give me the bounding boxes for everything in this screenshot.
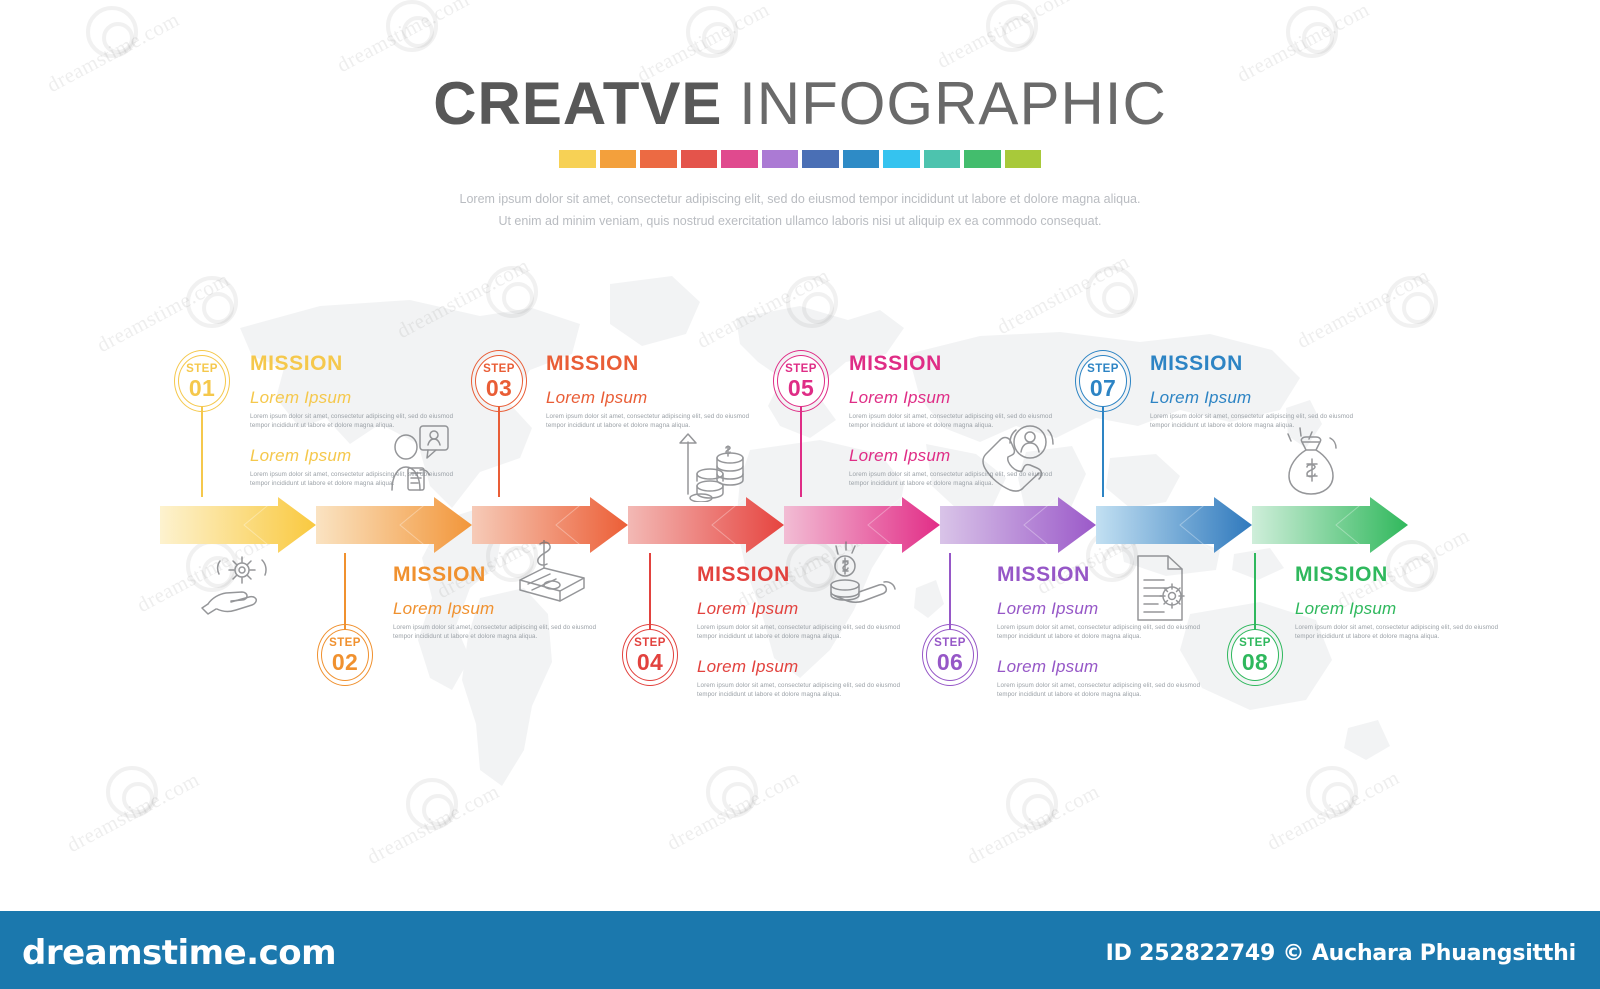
lorem-group: Lorem IpsumLorem ipsum dolor sit amet, c… <box>1150 388 1380 430</box>
money-bag-icon <box>1278 426 1344 500</box>
lorem-heading: Lorem Ipsum <box>849 388 1079 408</box>
lorem-heading: Lorem Ipsum <box>1150 388 1380 408</box>
connector-line-step-03 <box>498 400 500 497</box>
color-swatch-7 <box>802 150 839 168</box>
color-swatch-5 <box>721 150 758 168</box>
lorem-group: Lorem IpsumLorem ipsum dolor sit amet, c… <box>1295 599 1525 641</box>
cash-stack-icon <box>512 540 592 606</box>
arrow-segment-7 <box>1096 497 1252 553</box>
color-swatch-1 <box>559 150 596 168</box>
lorem-heading: Lorem Ipsum <box>697 657 927 677</box>
lorem-heading: Lorem Ipsum <box>997 599 1227 619</box>
step-word: STEP <box>329 637 361 649</box>
watermark-spiral-icon <box>1386 276 1438 328</box>
color-swatch-3 <box>640 150 677 168</box>
step-badge-05[interactable]: STEP05 <box>773 350 829 412</box>
step-number: 07 <box>1090 376 1116 400</box>
step-badge-04[interactable]: STEP04 <box>622 624 678 686</box>
step-word: STEP <box>1087 363 1119 375</box>
watermark-text: dreamstime.com <box>333 0 474 78</box>
mission-heading: MISSION <box>1150 352 1380 376</box>
step-number: 03 <box>486 376 512 400</box>
step-badge-03[interactable]: STEP03 <box>471 350 527 412</box>
mission-heading: MISSION <box>1295 563 1525 587</box>
step-badge-01[interactable]: STEP01 <box>174 350 230 412</box>
watermark-spiral-icon <box>186 276 238 328</box>
gear-in-hand-icon <box>196 548 280 616</box>
color-swatch-4 <box>681 150 718 168</box>
mission-heading: MISSION <box>997 563 1227 587</box>
step-content-08: MISSIONLorem IpsumLorem ipsum dolor sit … <box>1295 563 1525 657</box>
color-swatch-2 <box>600 150 637 168</box>
lorem-group: Lorem IpsumLorem ipsum dolor sit amet, c… <box>997 599 1227 641</box>
watermark-text: dreamstime.com <box>1293 263 1434 354</box>
coins-in-hand-icon <box>822 540 902 610</box>
step-number: 05 <box>788 376 814 400</box>
lorem-heading: Lorem Ipsum <box>997 657 1227 677</box>
badge-text: STEP06 <box>922 629 978 681</box>
watermark-spiral-icon <box>686 6 738 58</box>
lorem-body: Lorem ipsum dolor sit amet, consectetur … <box>697 623 902 641</box>
watermark-text: dreamstime.com <box>693 263 834 354</box>
step-word: STEP <box>785 363 817 375</box>
color-swatch-8 <box>843 150 880 168</box>
step-word: STEP <box>934 637 966 649</box>
mission-heading: MISSION <box>849 352 1079 376</box>
watermark-text: dreamstime.com <box>63 767 204 858</box>
step-number: 01 <box>189 376 215 400</box>
watermark-spiral-icon <box>386 0 438 52</box>
watermark-text: dreamstime.com <box>993 249 1134 340</box>
badge-text: STEP07 <box>1075 355 1131 407</box>
arrow-segment-8 <box>1252 497 1408 553</box>
watermark-text: dreamstime.com <box>1263 765 1404 856</box>
badge-text: STEP04 <box>622 629 678 681</box>
person-chat-icon <box>386 420 452 494</box>
step-number: 06 <box>937 650 963 674</box>
document-gear-icon <box>1130 550 1192 626</box>
step-word: STEP <box>483 363 515 375</box>
watermark-text: dreamstime.com <box>393 253 534 344</box>
page-title: CREATVE INFOGRAPHIC <box>0 72 1600 136</box>
badge-text: STEP05 <box>773 355 829 407</box>
color-swatch-strip <box>559 150 1041 168</box>
watermark-spiral-icon <box>86 6 138 58</box>
color-swatch-6 <box>762 150 799 168</box>
connector-line-step-07 <box>1102 400 1104 497</box>
lorem-heading: Lorem Ipsum <box>1295 599 1525 619</box>
step-word: STEP <box>1239 637 1271 649</box>
arrow-segment-6 <box>940 497 1096 553</box>
watermark-spiral-icon <box>706 766 758 818</box>
footer-bar: dreamstime.com ID 252822749 © Auchara Ph… <box>0 911 1600 989</box>
color-swatch-11 <box>964 150 1001 168</box>
step-content-06: MISSIONLorem IpsumLorem ipsum dolor sit … <box>997 563 1227 715</box>
watermark-spiral-icon <box>1006 778 1058 830</box>
watermark-spiral-icon <box>786 276 838 328</box>
mission-heading: MISSION <box>250 352 480 376</box>
badge-text: STEP02 <box>317 629 373 681</box>
lorem-body: Lorem ipsum dolor sit amet, consectetur … <box>1295 623 1500 641</box>
arrow-segment-1 <box>160 497 316 553</box>
coins-growth-icon <box>668 424 748 502</box>
watermark-text: dreamstime.com <box>663 765 804 856</box>
lorem-heading: Lorem Ipsum <box>250 388 480 408</box>
mission-heading: MISSION <box>546 352 776 376</box>
timeline-arrow-bar <box>160 497 1408 553</box>
arrow-segment-4 <box>628 497 784 553</box>
dreamstime-logo: dreamstime.com <box>22 933 336 973</box>
step-word: STEP <box>186 363 218 375</box>
watermark-spiral-icon <box>1086 266 1138 318</box>
color-swatch-9 <box>883 150 920 168</box>
lorem-heading: Lorem Ipsum <box>546 388 776 408</box>
watermark-text: dreamstime.com <box>963 779 1104 870</box>
color-swatch-12 <box>1005 150 1042 168</box>
lorem-body: Lorem ipsum dolor sit amet, consectetur … <box>697 681 902 699</box>
watermark-spiral-icon <box>406 778 458 830</box>
step-badge-02[interactable]: STEP02 <box>317 624 373 686</box>
title-bold-word: CREATVE <box>433 70 722 137</box>
header-subtitle: Lorem ipsum dolor sit amet, consectetur … <box>0 188 1600 232</box>
watermark-spiral-icon <box>1306 766 1358 818</box>
image-credit: ID 252822749 © Auchara Phuangsitthi <box>1106 941 1576 966</box>
title-light-word: INFOGRAPHIC <box>739 70 1167 137</box>
subtitle-line-2: Ut enim ad minim veniam, quis nostrud ex… <box>0 210 1600 232</box>
watermark-text: dreamstime.com <box>363 779 504 870</box>
step-badge-06[interactable]: STEP06 <box>922 624 978 686</box>
lorem-body: Lorem ipsum dolor sit amet, consectetur … <box>997 681 1202 699</box>
step-content-07: MISSIONLorem IpsumLorem ipsum dolor sit … <box>1150 352 1380 446</box>
badge-text: STEP08 <box>1227 629 1283 681</box>
watermark-spiral-icon <box>1286 6 1338 58</box>
connector-line-step-01 <box>201 400 203 497</box>
arrow-segment-2 <box>316 497 472 553</box>
step-number: 04 <box>637 650 663 674</box>
step-number: 08 <box>1242 650 1268 674</box>
color-swatch-10 <box>924 150 961 168</box>
connector-line-step-05 <box>800 400 802 497</box>
lorem-group: Lorem IpsumLorem ipsum dolor sit amet, c… <box>697 657 927 699</box>
step-badge-07[interactable]: STEP07 <box>1075 350 1131 412</box>
lorem-body: Lorem ipsum dolor sit amet, consectetur … <box>393 623 598 641</box>
subtitle-line-1: Lorem ipsum dolor sit amet, consectetur … <box>0 188 1600 210</box>
step-badge-08[interactable]: STEP08 <box>1227 624 1283 686</box>
phone-support-icon <box>978 422 1056 496</box>
header: CREATVE INFOGRAPHIC Lorem ipsum dolor si… <box>0 72 1600 232</box>
watermark-spiral-icon <box>986 0 1038 52</box>
badge-text: STEP03 <box>471 355 527 407</box>
lorem-group: Lorem IpsumLorem ipsum dolor sit amet, c… <box>997 657 1227 699</box>
watermark-spiral-icon <box>486 266 538 318</box>
infographic-canvas: dreamstime.com dreamstime.com dreamstime… <box>0 0 1600 989</box>
watermark-text: dreamstime.com <box>93 267 234 358</box>
step-number: 02 <box>332 650 358 674</box>
badge-text: STEP01 <box>174 355 230 407</box>
watermark-spiral-icon <box>106 766 158 818</box>
watermark-text: dreamstime.com <box>933 0 1074 74</box>
step-word: STEP <box>634 637 666 649</box>
